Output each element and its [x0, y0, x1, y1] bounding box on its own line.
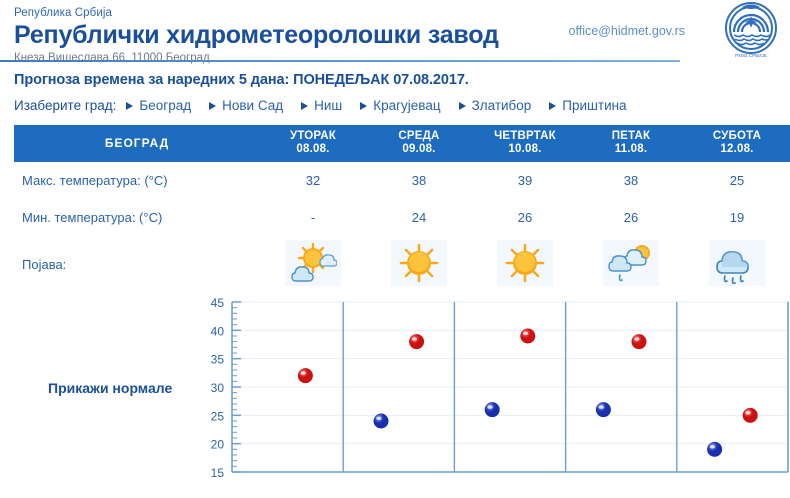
sun-icon [391, 240, 447, 286]
table-city-header: БЕОГРАД [14, 125, 260, 162]
min-temp-value: 19 [684, 199, 790, 236]
table-day-header: УТОРАК 08.08. [260, 125, 366, 162]
city-link-novi-sad[interactable]: Нови Сад [209, 98, 283, 113]
table-day-header: ПЕТАК 11.08. [578, 125, 684, 162]
city-link-label: Приштина [562, 98, 626, 113]
city-link-label: Ниш [314, 98, 342, 113]
table-header-row: БЕОГРАД УТОРАК 08.08. СРЕДА 09.08. ЧЕТВР… [14, 125, 790, 162]
city-link-label: Београд [139, 98, 191, 113]
day-name: ЧЕТВРТАК [472, 130, 578, 143]
city-link-zlatibor[interactable]: Златибор [459, 98, 532, 113]
table-row-phenomenon: Појава: [14, 236, 790, 292]
city-link-label: Крагујевац [373, 98, 440, 113]
site-header: Република Србија Републички хидрометеоро… [0, 0, 790, 62]
table-row-min-temp: Мин. температура: (°C) - 24 26 26 19 [14, 199, 790, 236]
sun-behind-clouds-light-rain-icon [603, 240, 659, 286]
max-temp-point [409, 334, 424, 349]
max-temp-point [743, 408, 758, 423]
day-name: СУБОТА [684, 130, 790, 143]
arrow-right-icon [549, 102, 556, 110]
day-date: 12.08. [684, 143, 790, 156]
city-link-nis[interactable]: Ниш [301, 98, 342, 113]
y-axis-tick-label: 25 [211, 409, 225, 423]
contact-email-link[interactable]: office@hidmet.gov.rs [569, 24, 685, 38]
max-temp-value: 32 [260, 162, 366, 199]
institute-address: Кнеза Вишеслава 66, 11000 Београд [14, 51, 790, 65]
y-axis-tick-label: 35 [211, 353, 225, 367]
max-temp-point [298, 368, 313, 383]
city-link-label: Златибор [472, 98, 532, 113]
row-label: Појава: [14, 236, 260, 292]
sun-icon [497, 240, 553, 286]
arrow-right-icon [301, 102, 308, 110]
day-name: УТОРАК [260, 130, 366, 143]
arrow-right-icon [360, 102, 367, 110]
min-temp-point [374, 414, 389, 429]
rhmz-emblem-icon: РХМЗ СРБИЈЕ [720, 1, 782, 59]
weather-icon-cell [260, 236, 366, 292]
weather-icon-cell [366, 236, 472, 292]
max-temp-value: 25 [684, 162, 790, 199]
city-link-label: Нови Сад [222, 98, 283, 113]
country-label: Република Србија [14, 4, 790, 20]
max-temp-value: 38 [578, 162, 684, 199]
table-day-header: ЧЕТВРТАК 10.08. [472, 125, 578, 162]
row-label: Мин. температура: (°C) [14, 199, 260, 236]
temperature-chart: Прикажи нормале 45403530252015 [0, 294, 790, 494]
min-temp-value: 26 [472, 199, 578, 236]
city-link-beograd[interactable]: Београд [126, 98, 191, 113]
day-date: 11.08. [578, 143, 684, 156]
city-chooser-label: Изаберите град: [14, 98, 116, 113]
arrow-right-icon [459, 102, 466, 110]
min-temp-value: - [260, 199, 366, 236]
min-temp-point [596, 402, 611, 417]
forecast-table: БЕОГРАД УТОРАК 08.08. СРЕДА 09.08. ЧЕТВР… [14, 125, 790, 292]
day-date: 10.08. [472, 143, 578, 156]
arrow-right-icon [126, 102, 133, 110]
min-temp-value: 24 [366, 199, 472, 236]
y-axis-tick-label: 20 [211, 438, 225, 452]
y-axis-tick-label: 30 [211, 381, 225, 395]
day-name: СРЕДА [366, 130, 472, 143]
max-temp-point [631, 334, 646, 349]
row-label: Макс. температура: (°C) [14, 162, 260, 199]
max-temp-point [520, 329, 535, 344]
header-divider [0, 60, 680, 62]
table-day-header: СУБОТА 12.08. [684, 125, 790, 162]
rain-cloud-icon [709, 240, 765, 286]
sun-behind-clouds-icon [285, 240, 341, 286]
weather-icon-cell [578, 236, 684, 292]
max-temp-value: 39 [472, 162, 578, 199]
min-temp-point [707, 442, 722, 457]
city-link-kragujevac[interactable]: Крагујевац [360, 98, 440, 113]
min-temp-point [485, 402, 500, 417]
logo-caption: РХМЗ СРБИЈЕ [735, 53, 767, 58]
y-axis-tick-label: 40 [211, 324, 225, 338]
page-title: Прогноза времена за наредних 5 дана: ПОН… [0, 62, 790, 88]
max-temp-value: 38 [366, 162, 472, 199]
weather-icon-cell [684, 236, 790, 292]
chart-canvas: 45403530252015 [0, 294, 790, 494]
day-name: ПЕТАК [578, 130, 684, 143]
city-link-pristina[interactable]: Приштина [549, 98, 626, 113]
table-day-header: СРЕДА 09.08. [366, 125, 472, 162]
arrow-right-icon [209, 102, 216, 110]
weather-icon-cell [472, 236, 578, 292]
city-chooser: Изаберите град: Београд Нови Сад Ниш Кра… [0, 88, 790, 113]
day-date: 08.08. [260, 143, 366, 156]
day-date: 09.08. [366, 143, 472, 156]
min-temp-value: 26 [578, 199, 684, 236]
table-row-max-temp: Макс. температура: (°C) 32 38 39 38 25 [14, 162, 790, 199]
y-axis-tick-label: 15 [211, 466, 225, 480]
y-axis-tick-label: 45 [211, 296, 225, 310]
